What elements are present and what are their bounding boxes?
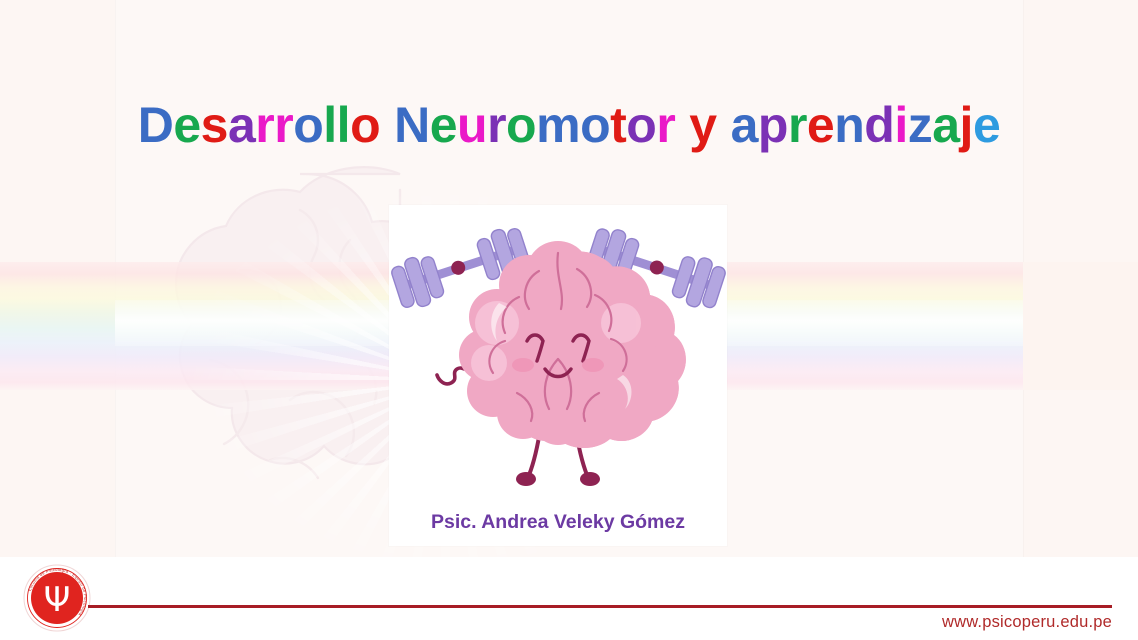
title-letter: p xyxy=(758,97,788,153)
title-letter: t xyxy=(610,97,626,153)
title-letter: a xyxy=(731,97,758,153)
title-letter: a xyxy=(932,97,959,153)
title-letter: r xyxy=(255,97,274,153)
illustration-card: Psic. Andrea Veleky Gómez xyxy=(389,205,727,546)
psicoperu-logo-icon: Escuela de Psicología · Equipo de Psicol… xyxy=(21,562,93,634)
title-letter: e xyxy=(807,97,834,153)
title-letter: e xyxy=(430,97,457,153)
svg-text:Ψ: Ψ xyxy=(44,580,71,620)
title-letter: o xyxy=(350,97,380,153)
slide-canvas: DesarrolloNeuromotoryaprendizaje xyxy=(0,0,1138,640)
title-letter: a xyxy=(228,97,255,153)
rainbow-band-right-cut xyxy=(1023,262,1138,390)
title-letter: d xyxy=(864,97,894,153)
footer-rule xyxy=(88,605,1112,608)
title-letter: i xyxy=(894,97,907,153)
title-letter: o xyxy=(293,97,323,153)
title-letter: l xyxy=(337,97,350,153)
title-letter: y xyxy=(689,97,716,153)
title-letter: o xyxy=(626,97,656,153)
title-letter: o xyxy=(506,97,536,153)
title-letter: z xyxy=(908,97,933,153)
title-letter: e xyxy=(973,97,1000,153)
title-letter: r xyxy=(788,97,807,153)
presenter-name: Psic. Andrea Veleky Gómez xyxy=(389,511,727,534)
page-title: DesarrolloNeuromotoryaprendizaje xyxy=(0,96,1138,154)
slide-footer: Escuela de Psicología · Equipo de Psicol… xyxy=(0,557,1138,640)
title-letter: m xyxy=(536,97,580,153)
title-letter: e xyxy=(173,97,200,153)
title-letter: o xyxy=(580,97,610,153)
title-letter: n xyxy=(834,97,864,153)
title-letter: D xyxy=(138,97,174,153)
title-letter: r xyxy=(487,97,506,153)
title-letter: r xyxy=(274,97,293,153)
title-letter: u xyxy=(457,97,487,153)
title-letter: j xyxy=(960,97,973,153)
footer-url[interactable]: www.psicoperu.edu.pe xyxy=(942,613,1112,632)
title-letter: l xyxy=(323,97,336,153)
title-letter: r xyxy=(656,97,675,153)
title-letter: s xyxy=(201,97,228,153)
title-letter: N xyxy=(394,97,430,153)
brain-dumbbell-icon xyxy=(389,213,727,493)
